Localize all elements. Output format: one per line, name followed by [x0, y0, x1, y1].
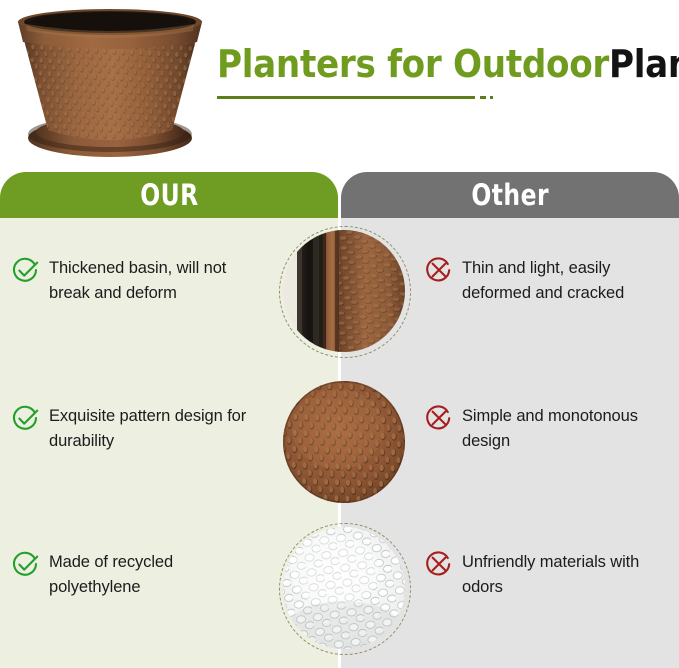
check-circle-icon	[12, 405, 40, 433]
page-title: Planters for OutdoorPlants	[217, 44, 677, 84]
check-circle-icon	[12, 257, 40, 285]
page-title-black: Plants	[609, 42, 679, 86]
detail-image-rim-thickness	[283, 230, 405, 352]
other-feature-row-1: Thin and light, easily deformed and crac…	[425, 256, 675, 306]
title-underline-dash	[480, 96, 486, 99]
x-circle-icon	[425, 405, 453, 433]
our-feature-text-2: Exquisite pattern design for durability	[49, 404, 262, 454]
title-underline	[217, 96, 492, 99]
other-panel-header-label: Other	[471, 178, 549, 212]
our-feature-row-1: Thickened basin, will not break and defo…	[12, 256, 262, 306]
other-feature-text-3: Unfriendly materials with odors	[462, 550, 675, 600]
our-feature-row-3: Made of recycled polyethylene	[12, 550, 262, 600]
other-panel-header: Other	[341, 172, 679, 218]
other-feature-text-1: Thin and light, easily deformed and crac…	[462, 256, 675, 306]
page-title-green: Planters for Outdoor	[217, 42, 609, 86]
top-banner: Planters for OutdoorPlants	[0, 0, 679, 172]
our-panel-header: OUR	[0, 172, 338, 218]
our-feature-text-3: Made of recycled polyethylene	[49, 550, 262, 600]
check-circle-icon	[12, 551, 40, 579]
product-hero-image	[6, 4, 214, 164]
other-feature-text-2: Simple and monotonous design	[462, 404, 675, 454]
other-feature-row-3: Unfriendly materials with odors	[425, 550, 675, 600]
detail-image-polyethylene-pellets	[283, 527, 405, 649]
detail-image-pebble-texture	[283, 381, 405, 503]
title-underline-dot	[490, 96, 493, 99]
our-feature-row-2: Exquisite pattern design for durability	[12, 404, 262, 454]
other-feature-row-2: Simple and monotonous design	[425, 404, 675, 454]
x-circle-icon	[425, 257, 453, 285]
title-underline-main	[217, 96, 475, 99]
x-circle-icon	[425, 551, 453, 579]
our-feature-text-1: Thickened basin, will not break and defo…	[49, 256, 262, 306]
our-panel-header-label: OUR	[140, 178, 198, 212]
